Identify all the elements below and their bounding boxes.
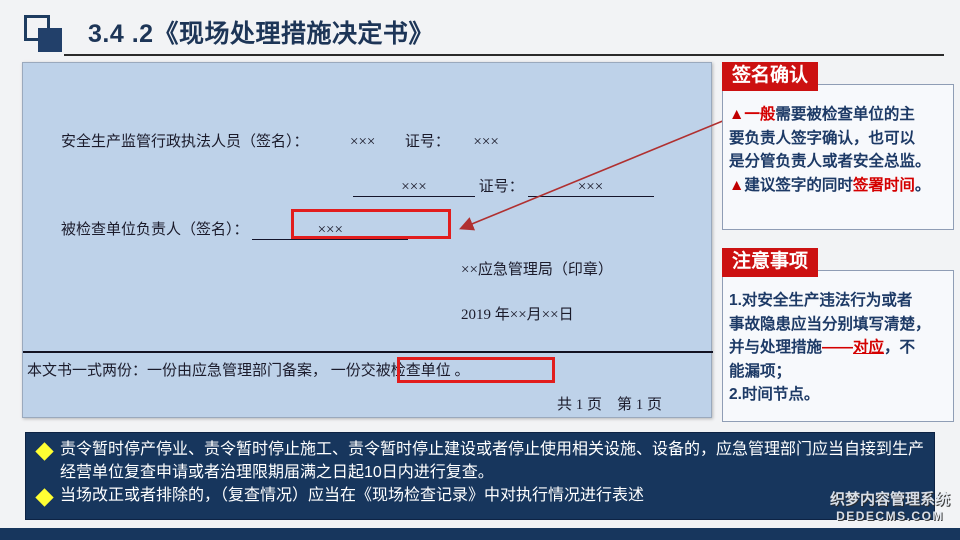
watermark: 织梦内容管理系统 DEDECMS.COM <box>826 492 954 536</box>
page-header: 3.4 .2《现场处理措施决定书》 <box>0 0 960 58</box>
annotation-1-line-1-emph: 一般 <box>744 106 775 123</box>
annotation-1-line-4: ▲建议签字的同时签署时间。 <box>729 174 948 198</box>
banner-item-2-text: 当场改正或者排除的，（复查情况）应当在《现场检查记录》中对执行情况进行表述 <box>60 485 644 508</box>
page-title: 3.4 .2《现场处理措施决定书》 <box>88 14 434 50</box>
annotation-1-line-1: ▲一般需要被检查单位的主 <box>729 103 948 127</box>
annotation-2-line-4: 能漏项； <box>729 360 948 384</box>
annotation-1-line-4-a: 建议签字的同时 <box>744 177 853 194</box>
inspector2-cert-field: ××× <box>528 179 654 197</box>
bottom-strip <box>0 528 960 540</box>
bottom-banner: 责令暂时停产停业、责令暂时停止施工、责令暂时停止建设或者停止使用相关设施、设备的… <box>25 432 935 520</box>
yellow-diamond-bullet-icon-2 <box>35 489 53 507</box>
annotation-2-line-3-emph: 对应 <box>853 339 884 356</box>
banner-item-1: 责令暂时停产停业、责令暂时停止施工、责令暂时停止建设或者停止使用相关设施、设备的… <box>34 439 924 484</box>
annotation-2-line-1: 1.对安全生产违法行为或者 <box>729 289 948 313</box>
annotation-2-body: 1.对安全生产违法行为或者 事故隐患应当分别填写清楚， 并与处理措施——对应，不… <box>723 271 953 413</box>
triangle-bullet-icon-2: ▲ <box>729 177 744 194</box>
watermark-en: DEDECMS.COM <box>826 509 954 523</box>
title-divider <box>64 54 944 56</box>
inspector-cert-value: ××× <box>473 134 498 150</box>
document-panel: 安全生产监管行政执法人员（签名）： ××× 证号： ××× ××× 证号： ××… <box>22 62 712 418</box>
logo-filled-square <box>38 28 62 52</box>
annotation-2-line-3-end: ，不 <box>884 339 915 356</box>
annotation-1-line-3: 是分管负责人或者安全总监。 <box>729 150 948 174</box>
inspector2-name-field: ××× <box>353 179 475 197</box>
inspector2-cert-label: 证号： <box>479 179 524 195</box>
annotation-2-line-2: 事故隐患应当分别填写清楚， <box>729 313 948 337</box>
footer-note-part-a: 本文书一式两份：一份由应急管理部门备案， <box>27 363 327 379</box>
annotation-1-line-2: 要负责人签字确认，也可以 <box>729 127 948 151</box>
doc-row-inspector: 安全生产监管行政执法人员（签名）： ××× 证号： ××× <box>61 130 499 151</box>
inspector-cert-label: 证号： <box>405 134 450 150</box>
yellow-diamond-bullet-icon <box>35 442 53 460</box>
inspector-label: 安全生产监管行政执法人员（签名）： <box>61 134 309 150</box>
annotation-1-header: 签名确认 <box>722 62 818 91</box>
annotation-1-line-4-end: 。 <box>915 177 931 194</box>
annotation-2-header: 注意事项 <box>722 248 818 277</box>
highlight-box-signature <box>291 209 451 239</box>
annotation-1-line-4-emph: 签署时间 <box>853 177 915 194</box>
annotation-2-line-5: 2.时间节点。 <box>729 383 948 407</box>
doc-row-date: 2019 年××月××日 <box>461 303 574 324</box>
banner-item-2: 当场改正或者排除的，（复查情况）应当在《现场检查记录》中对执行情况进行表述 <box>34 485 924 508</box>
annotation-1-panel: ▲一般需要被检查单位的主 要负责人签字确认，也可以 是分管负责人或者安全总监。 … <box>722 84 954 230</box>
doc-footer-divider <box>23 351 713 353</box>
doc-page-count: 共 1 页 第 1 页 <box>557 393 662 414</box>
watermark-cn: 织梦内容管理系统 <box>826 492 954 509</box>
annotation-1-line-1-rest: 需要被检查单位的主 <box>775 106 915 123</box>
doc-row-inspector-2: ××× 证号： ××× <box>353 175 654 197</box>
highlight-box-copy-note <box>397 357 555 383</box>
double-square-logo-icon <box>24 15 68 53</box>
annotation-2-line-3-dash: —— <box>822 339 853 356</box>
annotation-2-panel: 1.对安全生产违法行为或者 事故隐患应当分别填写清楚， 并与处理措施——对应，不… <box>722 270 954 422</box>
annotation-2-line-3-a: 并与处理措施 <box>729 339 822 356</box>
annotation-2-line-3: 并与处理措施——对应，不 <box>729 336 948 360</box>
triangle-bullet-icon: ▲ <box>729 106 744 123</box>
unit-head-label: 被检查单位负责人（签名）： <box>61 222 249 238</box>
doc-row-seal: ××应急管理局（印章） <box>461 258 613 279</box>
inspector-name-value: ××× <box>350 134 375 150</box>
annotation-1-body: ▲一般需要被检查单位的主 要负责人签字确认，也可以 是分管负责人或者安全总监。 … <box>723 85 953 203</box>
banner-item-1-text: 责令暂时停产停业、责令暂时停止施工、责令暂时停止建设或者停止使用相关设施、设备的… <box>60 439 924 484</box>
